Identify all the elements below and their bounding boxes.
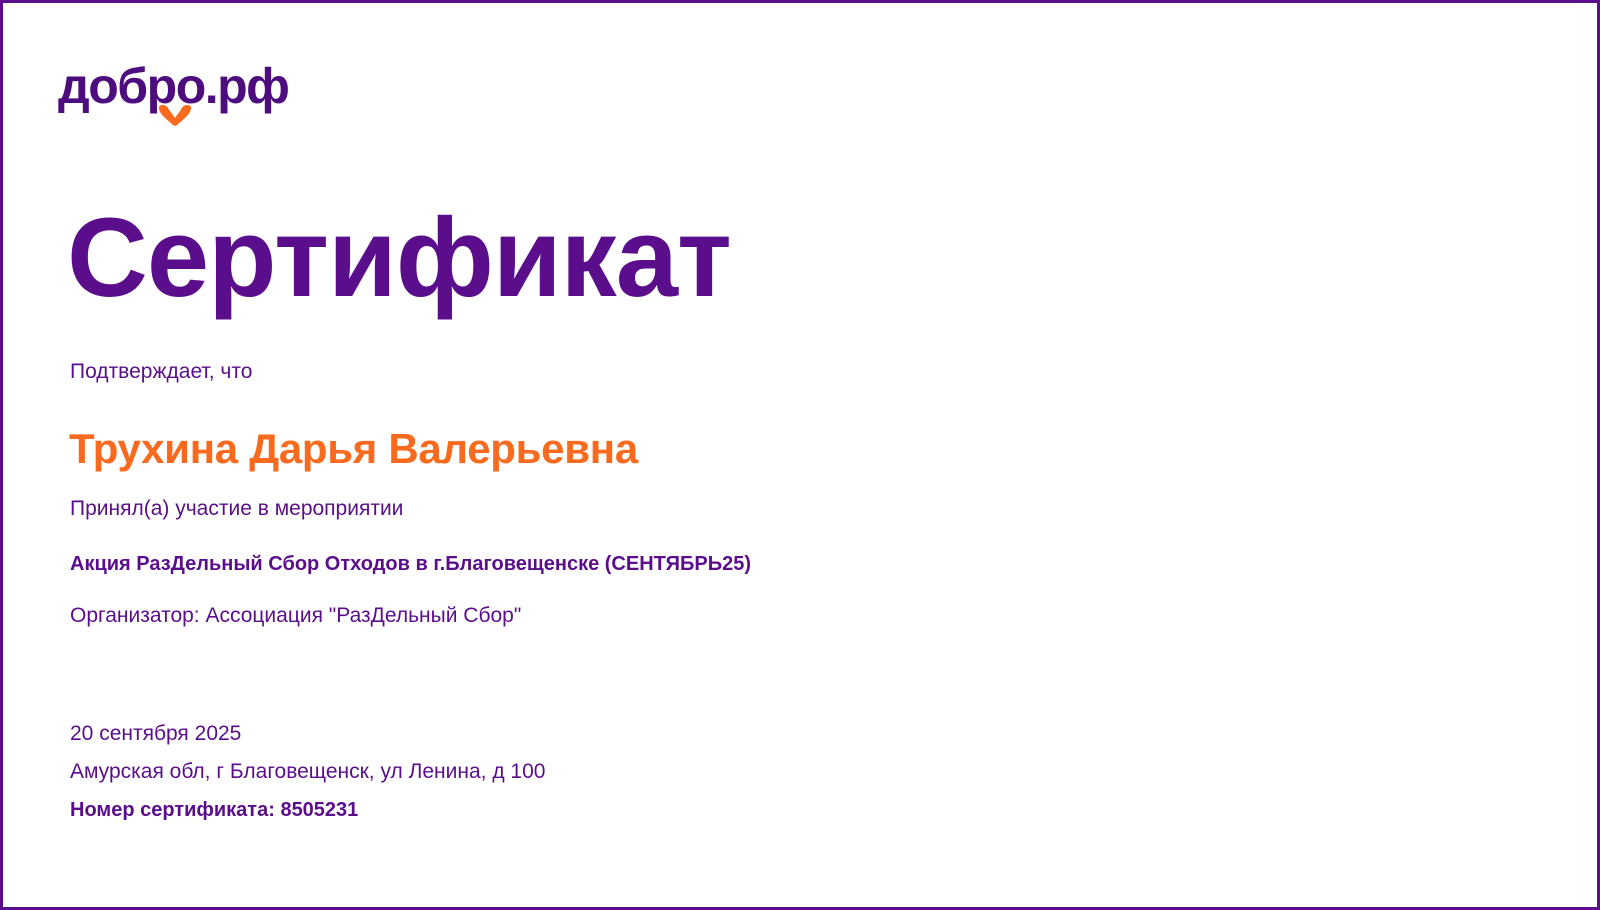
certificate-number: Номер сертификата: 8505231 [70,791,970,829]
page-title: Сертификат [67,199,731,317]
issue-date: 20 сентября 2025 [70,715,970,753]
event-address: Амурская обл, г Благовещенск, ул Ленина,… [70,753,970,791]
organizer-line: Организатор: Ассоциация "РазДельный Сбор… [70,602,521,630]
heart-icon [157,105,193,127]
confirms-label: Подтверждает, что [70,358,252,386]
logo-wordmark: добро.рф [58,61,358,111]
certificate-page: добро.рф Сертификат Подтверждает, что Тр… [0,0,1600,910]
event-title: Акция РазДельный Сбор Отходов в г.Благов… [70,551,751,577]
footer-block: 20 сентября 2025 Амурская обл, г Благове… [70,715,970,829]
brand-logo[interactable]: добро.рф [58,61,358,123]
participation-label: Принял(а) участие в мероприятии [70,495,403,523]
recipient-name: Трухина Дарья Валерьевна [69,424,638,474]
